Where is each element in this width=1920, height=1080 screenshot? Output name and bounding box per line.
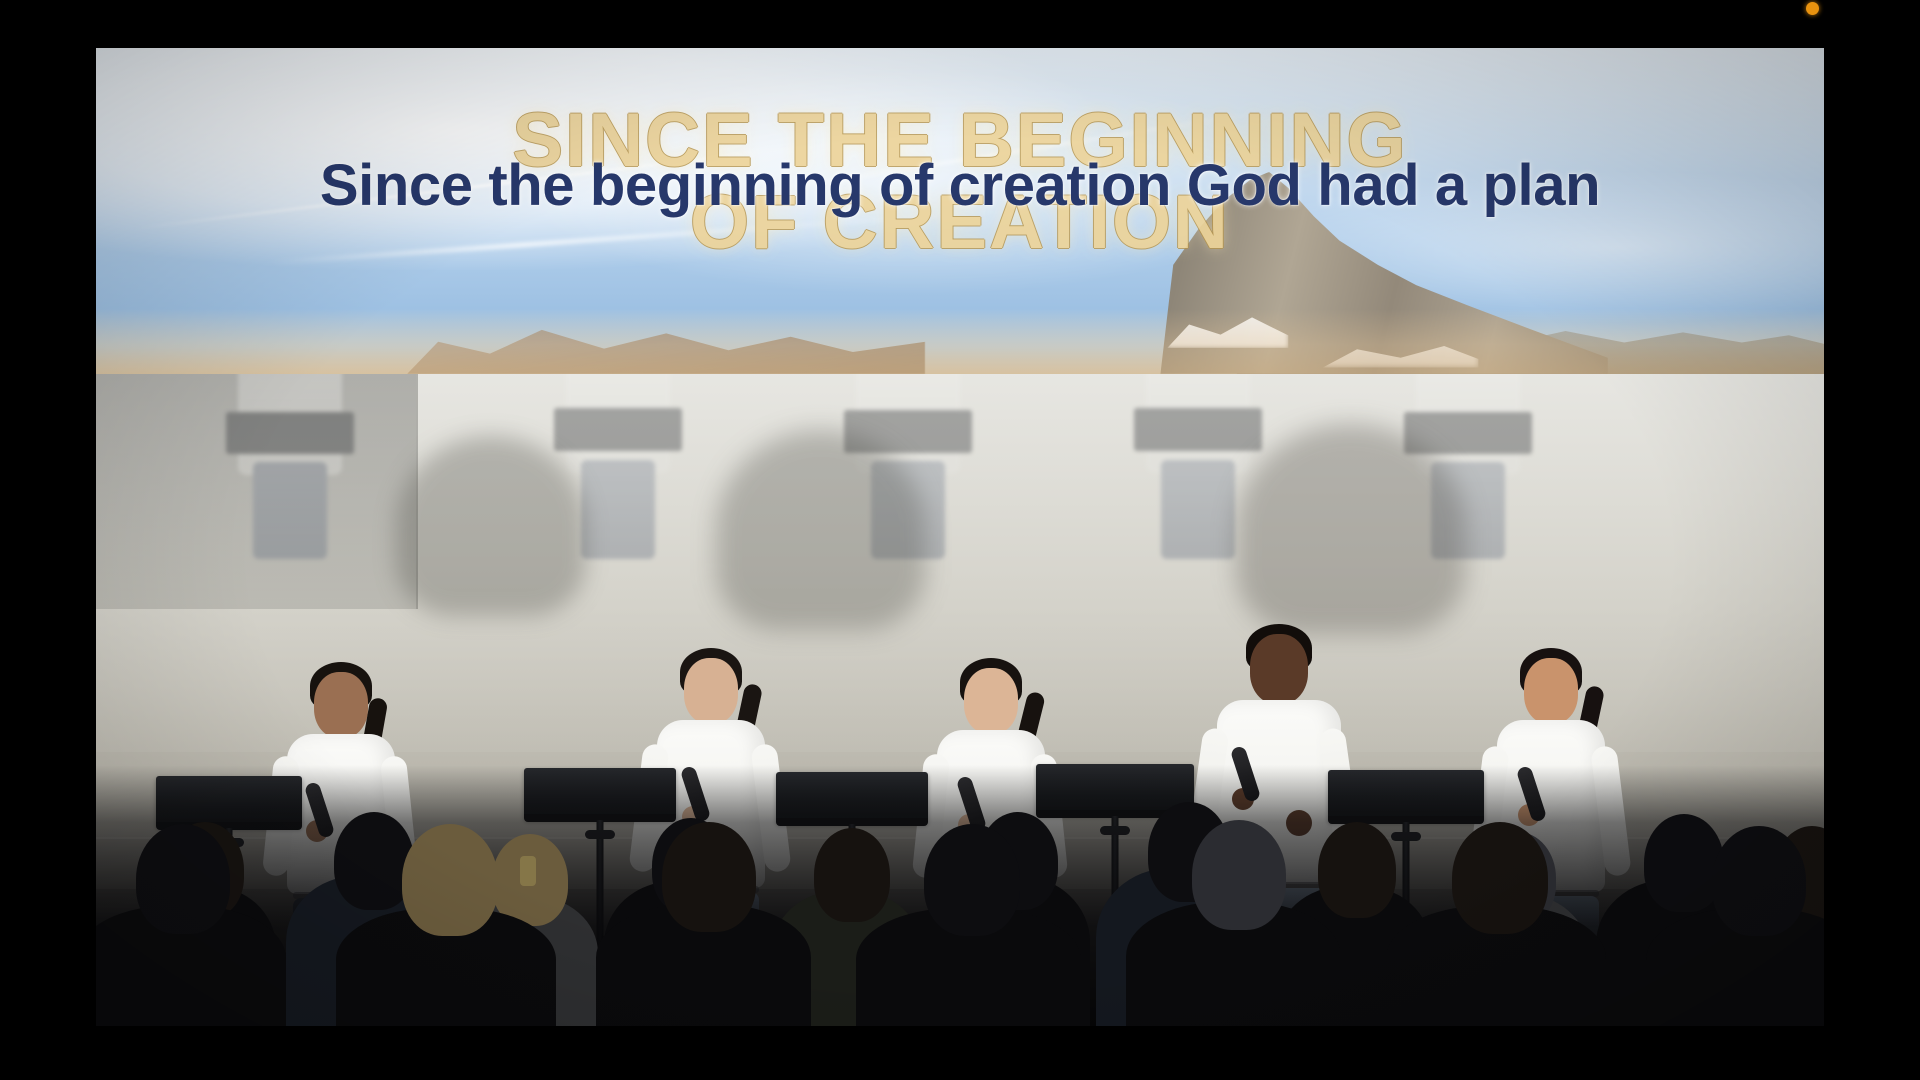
recording-indicator-icon (1806, 2, 1819, 15)
stage-area (96, 374, 1824, 1026)
projected-slide: SINCE THE BEGINNING OF CREATION (96, 48, 1824, 374)
video-frame[interactable]: SINCE THE BEGINNING OF CREATION (96, 48, 1824, 1026)
projected-shadow (396, 436, 586, 616)
screen-root: SINCE THE BEGINNING OF CREATION (0, 0, 1920, 1080)
horizon-glow (96, 309, 1824, 374)
projected-shadow (716, 430, 926, 630)
audience-area (96, 765, 1824, 1026)
projected-ghost-figure (238, 374, 342, 546)
projected-ghost-figure (1146, 374, 1250, 546)
